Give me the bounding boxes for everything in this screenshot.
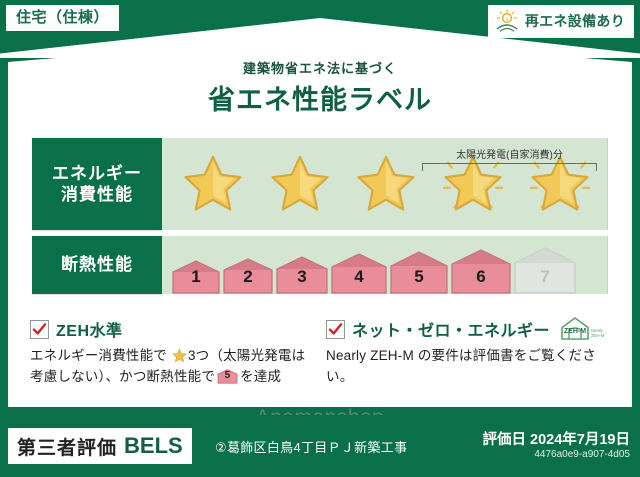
energy-performance-label: 住宅（住棟） э 再エネ設備あり 建築物省エネ法に基づく 省エネ性能ラベル エネ…	[0, 0, 640, 477]
bels-badge: 第三者評価 BELS	[8, 428, 192, 464]
energy-caption-line1: エネルギー	[52, 163, 142, 184]
net-zero-energy-header: ネット・ゼロ・エネルギー ZEH-M Nearly ZEH-M	[326, 318, 606, 340]
zeh-standard-title: ZEH水準	[56, 317, 123, 341]
renewable-equipment-badge: э 再エネ設備あり	[488, 5, 634, 38]
insulation-level-value: 4	[331, 267, 387, 287]
energy-stars-panel: 太陽光発電(自家消費)分	[162, 138, 608, 230]
footer-bar: 第三者評価 BELS ②葛飾区白鳥4丁目ＰＪ新築工事 評価日 2024年7月19…	[0, 415, 640, 477]
star-icon	[355, 153, 417, 213]
insulation-level-value: 5	[390, 267, 448, 287]
solar-sun-icon: э	[494, 9, 520, 33]
building-type-badge: 住宅（住棟）	[6, 5, 119, 31]
insulation-performance-caption: 断熱性能	[32, 236, 162, 294]
evaluation-id: 4476a0e9-a907-4d05	[534, 449, 630, 460]
star-3	[347, 147, 425, 221]
bels-jp-label: 第三者評価	[17, 433, 117, 460]
insulation-performance-row: 断熱性能 1234567	[32, 236, 608, 294]
label-subtitle: 建築物省エネ法に基づく	[0, 58, 640, 77]
insulation-level-scale: 1234567	[172, 236, 599, 294]
inline-star-icon	[172, 348, 187, 363]
zeh-body-part1: エネルギー消費性能で	[30, 348, 167, 363]
star-1	[174, 147, 252, 221]
inline-house-level: 5	[217, 368, 238, 384]
zeh-body-part3: を達成	[240, 369, 281, 384]
star-icon	[529, 153, 591, 213]
inline-house-icon: 5	[217, 369, 238, 384]
insulation-level-value: 2	[223, 267, 273, 287]
net-zero-energy-body: Nearly ZEH-M の要件は評価書をご覧ください。	[326, 346, 606, 388]
star-4	[434, 147, 512, 221]
zeh-standard-note: ZEH水準 エネルギー消費性能で 3つ（太陽光発電は考慮しない）、かつ断熱性能で…	[30, 318, 310, 388]
check-icon	[328, 322, 343, 337]
svg-text:э: э	[505, 17, 508, 23]
insulation-level-value: 1	[172, 267, 220, 287]
net-zero-energy-checkbox[interactable]	[326, 320, 345, 339]
zeh-standard-header: ZEH水準	[30, 318, 310, 340]
star-5	[521, 147, 599, 221]
zeh-m-logo-icon: ZEH-M Nearly ZEH-M	[559, 316, 605, 342]
insulation-level-value: 3	[276, 267, 328, 287]
check-icon	[32, 322, 47, 337]
star-icon	[269, 153, 331, 213]
insulation-level-2: 2	[223, 258, 273, 294]
insulation-level-6: 6	[451, 249, 511, 294]
insulation-caption-label: 断熱性能	[61, 254, 133, 275]
label-title: 省エネ性能ラベル	[0, 78, 640, 117]
property-name: ②葛飾区白鳥4丁目ＰＪ新築工事	[215, 437, 407, 456]
insulation-level-value: 6	[451, 267, 511, 287]
renewable-equipment-label: 再エネ設備あり	[525, 14, 625, 28]
insulation-level-4: 4	[331, 253, 387, 294]
insulation-level-1: 1	[172, 260, 220, 294]
zeh-standard-checkbox[interactable]	[30, 320, 49, 339]
net-zero-energy-title: ネット・ゼロ・エネルギー	[352, 317, 550, 341]
energy-performance-row: エネルギー 消費性能 太陽光発電(自家消費)分	[32, 138, 608, 230]
insulation-level-5: 5	[390, 251, 448, 294]
star-icon	[442, 153, 504, 213]
insulation-levels-panel: 1234567	[162, 236, 608, 294]
energy-performance-caption: エネルギー 消費性能	[32, 138, 162, 230]
insulation-level-7: 7	[514, 247, 576, 294]
evaluation-date: 評価日 2024年7月19日	[483, 428, 630, 449]
star-icon	[182, 153, 244, 213]
star-rating	[170, 138, 603, 230]
svg-text:ZEH-M: ZEH-M	[591, 333, 605, 338]
zeh-body-star-count: 3つ（太陽光発	[188, 348, 278, 363]
energy-caption-line2: 消費性能	[61, 184, 133, 205]
star-2	[261, 147, 339, 221]
svg-text:ZEH-M: ZEH-M	[564, 328, 586, 335]
net-zero-energy-note: ネット・ゼロ・エネルギー ZEH-M Nearly ZEH-M Nearly Z…	[326, 318, 606, 388]
bels-en-label: BELS	[124, 433, 183, 459]
insulation-level-value: 7	[514, 267, 576, 287]
insulation-level-3: 3	[276, 256, 328, 294]
zeh-standard-body: エネルギー消費性能で 3つ（太陽光発電は考慮しない）、かつ断熱性能で 5 を達成	[30, 346, 310, 388]
building-type-label: 住宅（住棟）	[16, 9, 109, 26]
